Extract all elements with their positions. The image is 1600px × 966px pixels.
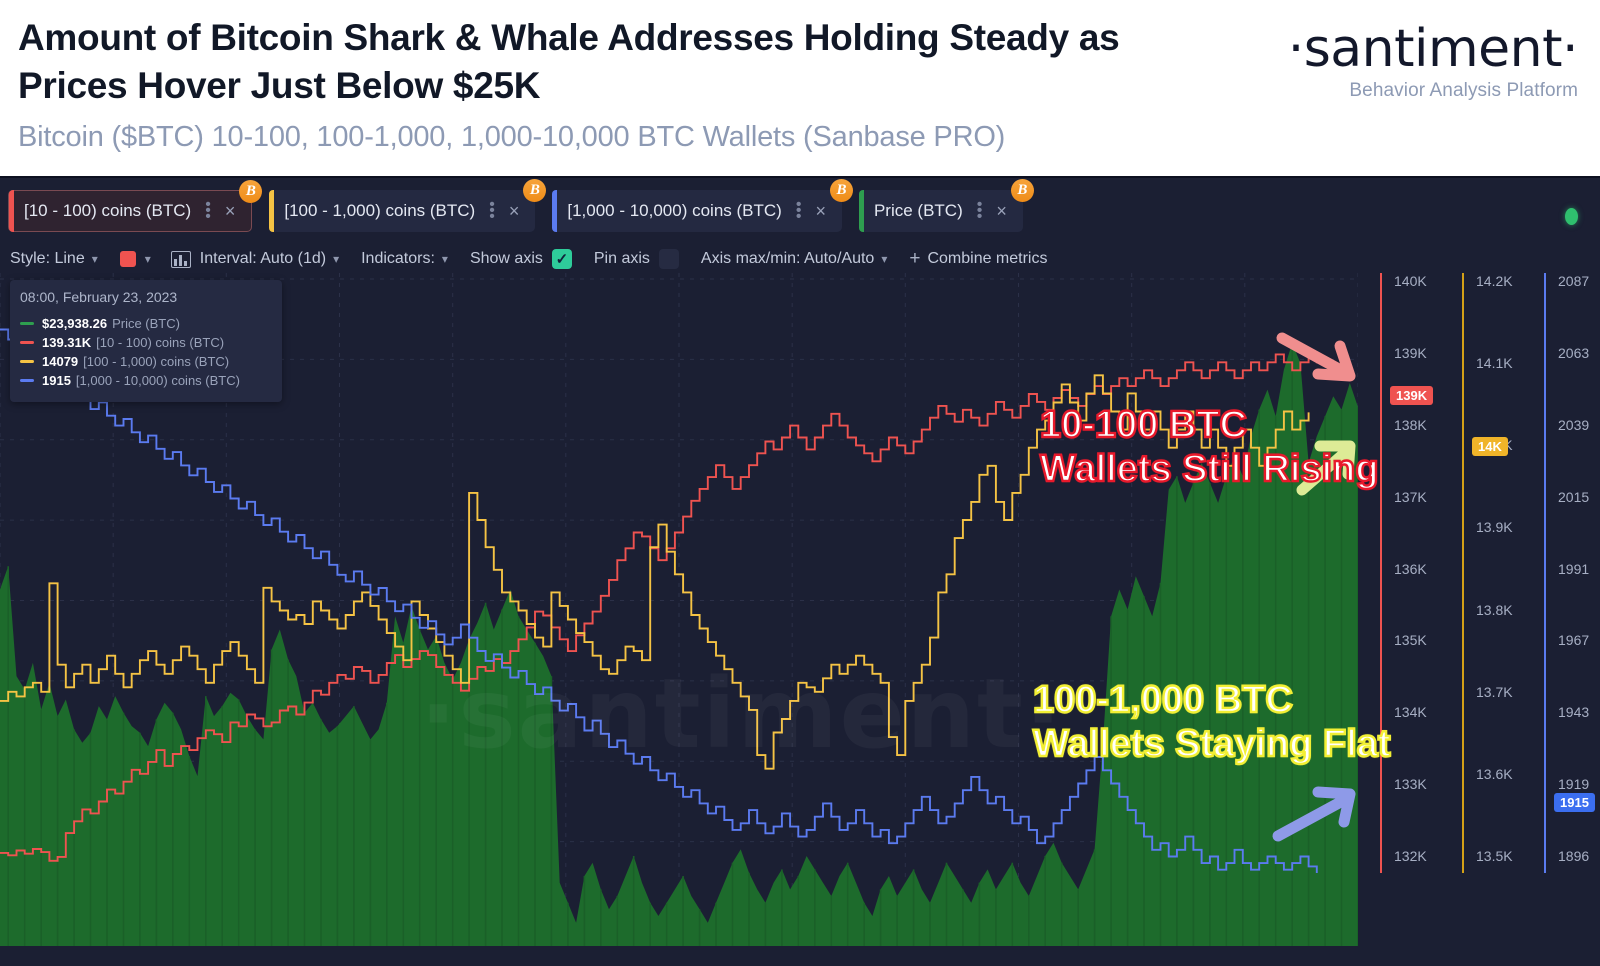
- chevron-down-icon: ▾: [333, 252, 339, 266]
- close-icon[interactable]: ×: [501, 201, 528, 222]
- tooltip-row: 139.31K[10 - 100) coins (BTC): [20, 335, 272, 350]
- tooltip-series-name: [10 - 100) coins (BTC): [96, 335, 224, 350]
- annotation-10-100-line2: Wallets Still Rising: [1040, 447, 1379, 491]
- chevron-down-icon: ▾: [145, 252, 151, 266]
- axis-tick-label: 137K: [1394, 489, 1427, 505]
- kebab-menu-icon[interactable]: •••: [977, 202, 983, 220]
- brand-name: ·santiment·: [1288, 20, 1578, 78]
- axis-1000-10000: 2087206320392015199119671943191918961915: [1544, 273, 1600, 873]
- chart-application: [10 - 100) coins (BTC)•••×B[100 - 1,000)…: [0, 176, 1600, 966]
- bitcoin-icon: B: [830, 179, 853, 202]
- metric-chip-color-bar: [859, 190, 864, 232]
- axis-current-value-badge: 14K: [1472, 437, 1508, 456]
- axis-100-1000: 14.2K14.1K13.9K13.9K13.8K13.7K13.6K13.5K…: [1462, 273, 1542, 873]
- tooltip-value: $23,938.26: [42, 316, 107, 331]
- combine-metrics-label: Combine metrics: [927, 250, 1047, 268]
- axis-tick-label: 2087: [1558, 273, 1589, 289]
- chevron-down-icon: ▾: [92, 252, 98, 266]
- empty-checkbox-icon[interactable]: [659, 249, 679, 269]
- axis-tick-label: 13.7K: [1476, 684, 1513, 700]
- series-color-dash: [20, 341, 34, 344]
- brand-logo: ·santiment· Behavior Analysis Platform: [1288, 20, 1578, 102]
- show-axis-toggle[interactable]: Show axis ✓: [470, 249, 572, 269]
- chevron-down-icon: ▾: [442, 252, 448, 266]
- axis-tick-label: 139K: [1394, 345, 1427, 361]
- axis-tick-label: 2015: [1558, 489, 1589, 505]
- axis-line: [1380, 273, 1382, 873]
- bitcoin-icon: B: [523, 179, 546, 202]
- annotation-100-1000-line1: 100-1,000 BTC: [1033, 678, 1391, 722]
- axis-current-value-badge: 1915: [1554, 793, 1595, 812]
- pin-axis-label: Pin axis: [594, 250, 650, 268]
- axis-tick-label: 134K: [1394, 704, 1427, 720]
- metric-chip-label: [10 - 100) coins (BTC): [24, 201, 191, 221]
- style-dropdown[interactable]: Style: Line ▾: [10, 250, 98, 268]
- metric-chip-2[interactable]: [1,000 - 10,000) coins (BTC)•••×B: [552, 190, 842, 232]
- axis-minmax-label: Axis max/min: Auto/Auto: [701, 250, 874, 268]
- indicators-dropdown-label: Indicators:: [361, 250, 435, 268]
- tooltip-series-name: [100 - 1,000) coins (BTC): [83, 354, 229, 369]
- axis-tick-label: 13.5K: [1476, 848, 1513, 864]
- color-swatch: [120, 251, 136, 267]
- series-color-dash: [20, 360, 34, 363]
- metric-chip-0[interactable]: [10 - 100) coins (BTC)•••×B: [8, 190, 252, 232]
- axis-tick-label: 13.6K: [1476, 766, 1513, 782]
- axis-tick-label: 13.9K: [1476, 519, 1513, 535]
- bitcoin-icon: B: [1011, 179, 1034, 202]
- bitcoin-icon: B: [239, 180, 262, 203]
- axis-tick-label: 1967: [1558, 632, 1589, 648]
- tooltip-series-name: [1,000 - 10,000) coins (BTC): [76, 373, 240, 388]
- kebab-menu-icon[interactable]: •••: [489, 202, 495, 220]
- interval-dropdown[interactable]: Interval: Auto (1d) ▾: [171, 250, 339, 268]
- metric-chip-bar: [10 - 100) coins (BTC)•••×B[100 - 1,000)…: [8, 190, 1040, 238]
- color-dropdown[interactable]: ▾: [120, 251, 151, 267]
- tooltip-value: 1915: [42, 373, 71, 388]
- axis-minmax-dropdown[interactable]: Axis max/min: Auto/Auto ▾: [701, 250, 887, 268]
- page-subtitle: Bitcoin ($BTC) 10-100, 100-1,000, 1,000-…: [18, 118, 1278, 156]
- annotation-100-1000-line2: Wallets Staying Flat: [1033, 722, 1391, 766]
- axis-tick-label: 132K: [1394, 848, 1427, 864]
- axis-tick-label: 14.1K: [1476, 355, 1513, 371]
- interval-dropdown-label: Interval: Auto (1d): [200, 250, 326, 268]
- axis-tick-label: 136K: [1394, 561, 1427, 577]
- right-axis-group: 140K139K138K137K136K135K134K133K132K139K…: [1358, 273, 1600, 946]
- metric-chip-1[interactable]: [100 - 1,000) coins (BTC)•••×B: [269, 190, 535, 232]
- pin-axis-toggle[interactable]: Pin axis: [594, 249, 679, 269]
- indicators-dropdown[interactable]: Indicators: ▾: [361, 250, 448, 268]
- axis-tick-label: 1991: [1558, 561, 1589, 577]
- plus-icon: +: [909, 248, 920, 270]
- chart-toolbar: Style: Line ▾ ▾ Interval: Auto (1d) ▾ In…: [10, 246, 1069, 272]
- show-axis-label: Show axis: [470, 250, 543, 268]
- tooltip-row: 14079[100 - 1,000) coins (BTC): [20, 354, 272, 369]
- axis-tick-label: 1919: [1558, 776, 1589, 792]
- tooltip-series-name: Price (BTC): [112, 316, 180, 331]
- combine-metrics-button[interactable]: + Combine metrics: [909, 248, 1047, 270]
- axis-line: [1462, 273, 1464, 873]
- annotation-10-100: 10-100 BTC Wallets Still Rising: [1040, 403, 1379, 491]
- metric-chip-label: [1,000 - 10,000) coins (BTC): [567, 201, 781, 221]
- axis-line: [1544, 273, 1546, 873]
- brand-tagline: Behavior Analysis Platform: [1288, 80, 1578, 102]
- checkmark-icon[interactable]: ✓: [552, 249, 572, 269]
- tooltip-row: 1915[1,000 - 10,000) coins (BTC): [20, 373, 272, 388]
- bar-chart-icon: [171, 251, 191, 268]
- kebab-menu-icon[interactable]: •••: [205, 202, 211, 220]
- series-color-dash: [20, 322, 34, 325]
- tooltip-date: 08:00, February 23, 2023: [20, 289, 272, 305]
- page-header: Amount of Bitcoin Shark & Whale Addresse…: [0, 0, 1600, 176]
- axis-tick-label: 1896: [1558, 848, 1589, 864]
- axis-tick-label: 1943: [1558, 704, 1589, 720]
- metric-chip-color-bar: [269, 190, 274, 232]
- tooltip-value: 139.31K: [42, 335, 91, 350]
- metric-chip-label: Price (BTC): [874, 201, 963, 221]
- chart-tooltip: 08:00, February 23, 2023 $23,938.26Price…: [10, 280, 282, 402]
- tooltip-row: $23,938.26Price (BTC): [20, 316, 272, 331]
- annotation-100-1000: 100-1,000 BTC Wallets Staying Flat: [1033, 678, 1391, 766]
- axis-10-100: 140K139K138K137K136K135K134K133K132K139K: [1380, 273, 1460, 873]
- close-icon[interactable]: ×: [807, 201, 834, 222]
- metric-chip-3[interactable]: Price (BTC)•••×B: [859, 190, 1023, 232]
- metric-chip-color-bar: [9, 190, 14, 232]
- chevron-down-icon: ▾: [881, 252, 887, 266]
- style-dropdown-label: Style: Line: [10, 250, 85, 268]
- axis-current-value-badge: 139K: [1390, 386, 1433, 405]
- live-status-dot: [1565, 208, 1578, 225]
- series-color-dash: [20, 379, 34, 382]
- axis-tick-label: 140K: [1394, 273, 1427, 289]
- axis-tick-label: 133K: [1394, 776, 1427, 792]
- axis-tick-label: 2039: [1558, 417, 1589, 433]
- axis-tick-label: 13.8K: [1476, 602, 1513, 618]
- close-icon[interactable]: ×: [988, 201, 1015, 222]
- annotation-10-100-line1: 10-100 BTC: [1040, 403, 1379, 447]
- metric-chip-color-bar: [552, 190, 557, 232]
- axis-tick-label: 138K: [1394, 417, 1427, 433]
- axis-tick-label: 14.2K: [1476, 273, 1513, 289]
- tooltip-value: 14079: [42, 354, 78, 369]
- metric-chip-label: [100 - 1,000) coins (BTC): [284, 201, 475, 221]
- page-title: Amount of Bitcoin Shark & Whale Addresse…: [18, 14, 1148, 110]
- axis-tick-label: 2063: [1558, 345, 1589, 361]
- axis-tick-label: 135K: [1394, 632, 1427, 648]
- close-icon[interactable]: ×: [217, 201, 244, 222]
- kebab-menu-icon[interactable]: •••: [796, 202, 802, 220]
